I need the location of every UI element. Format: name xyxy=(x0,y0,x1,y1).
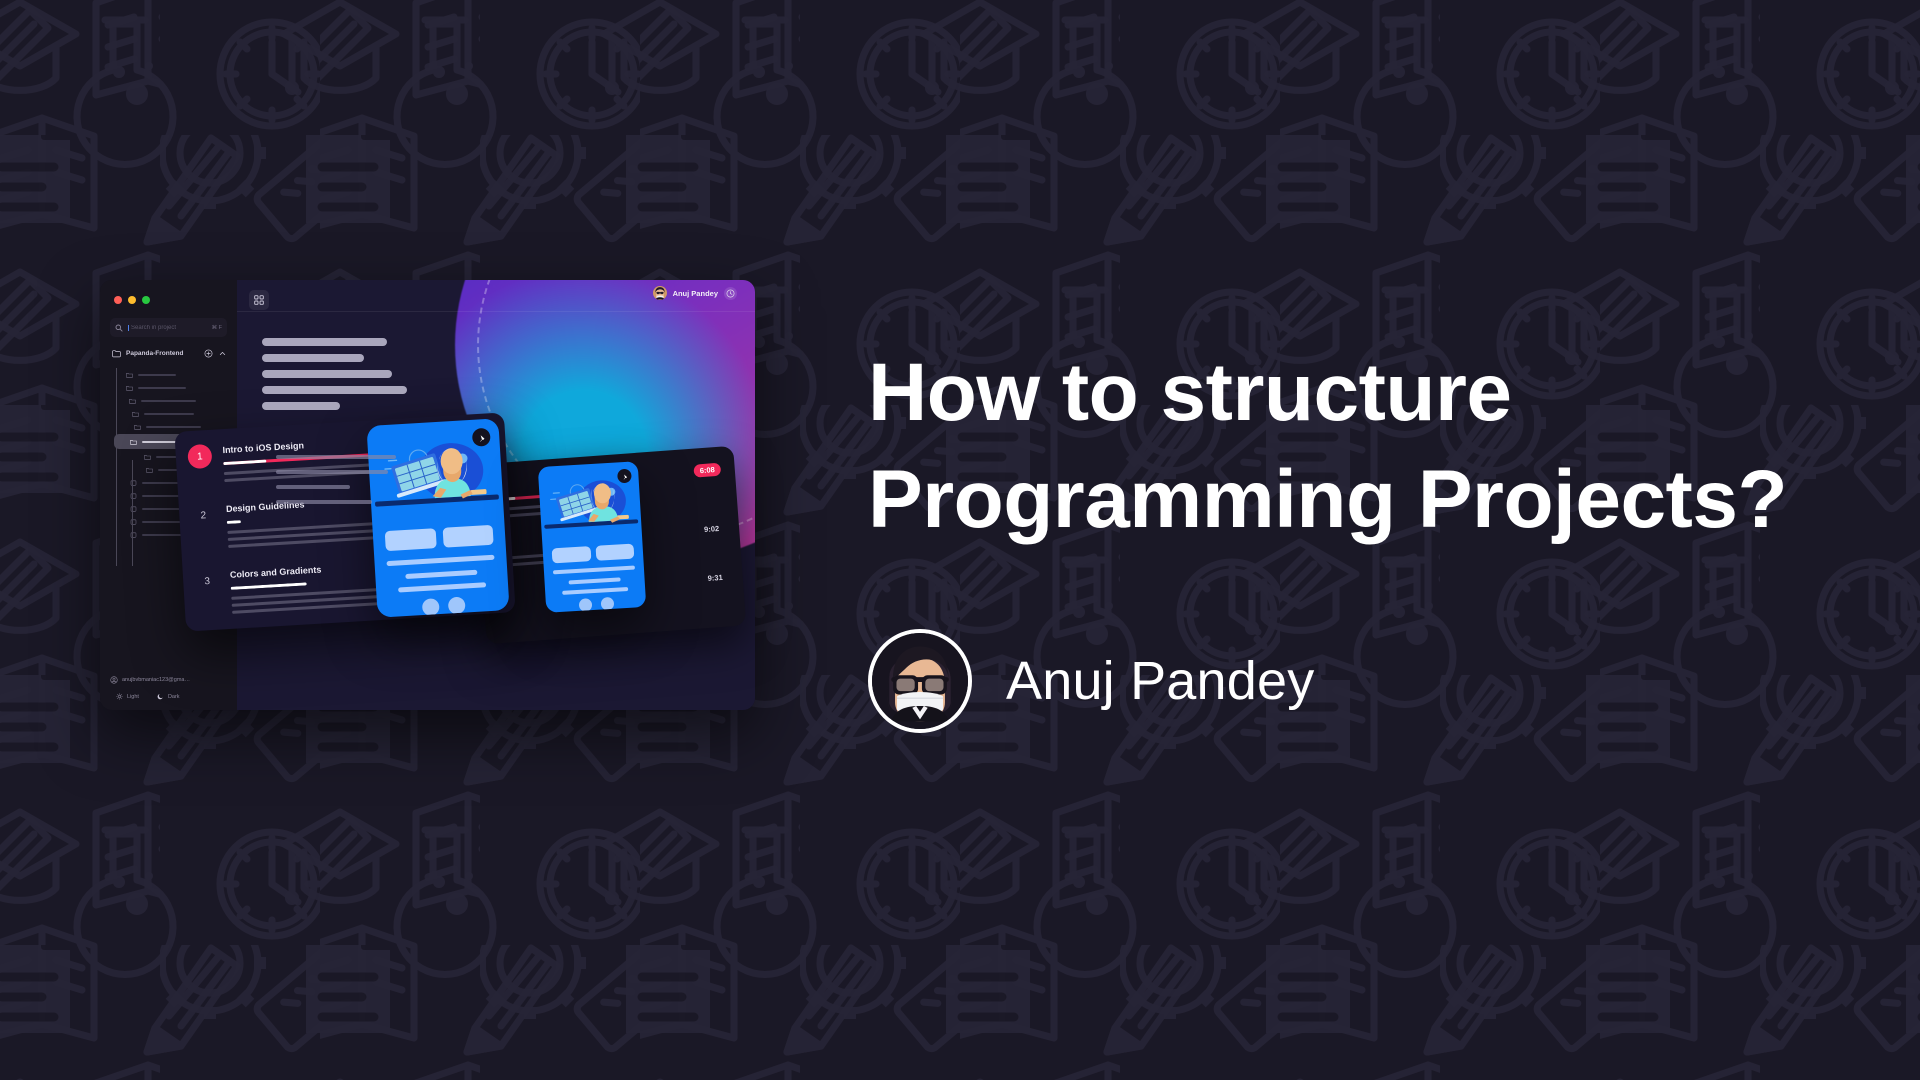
user-chip-name: Anuj Pandey xyxy=(673,289,718,298)
phone-card-row xyxy=(552,544,635,564)
search-input-value: Search in project xyxy=(128,325,207,331)
person-at-laptop-illustration xyxy=(538,473,642,545)
theme-label-light: Light xyxy=(127,694,139,700)
page-title-line1: How to structure xyxy=(868,340,1868,447)
course-title: Intro to iOS Design xyxy=(222,440,304,455)
folder-icon xyxy=(126,385,133,391)
phone-line xyxy=(405,570,477,579)
phone-card xyxy=(595,544,634,561)
content-skeleton-secondary xyxy=(276,455,396,515)
search-input[interactable]: Search in project ⌘ F xyxy=(110,318,227,337)
course-number: 2 xyxy=(191,503,216,528)
minimize-icon[interactable] xyxy=(128,296,136,304)
author-row: Anuj Pandey xyxy=(868,629,1314,733)
user-chip-avatar xyxy=(653,286,667,300)
phone-card xyxy=(442,525,494,548)
folder-icon xyxy=(130,439,137,445)
tree-item[interactable] xyxy=(116,368,227,381)
phone-dot xyxy=(421,598,439,616)
phone-card xyxy=(552,546,591,563)
phone-mockup-large xyxy=(366,418,509,617)
folder-icon xyxy=(134,424,141,430)
sun-icon xyxy=(116,693,123,700)
project-name: Papanda-Frontend xyxy=(126,350,183,357)
folder-icon xyxy=(146,467,153,473)
phone-dot xyxy=(600,597,614,611)
grid-apps-button[interactable] xyxy=(249,290,269,310)
folder-icon xyxy=(126,372,133,378)
search-icon xyxy=(115,324,123,332)
phone-line xyxy=(569,577,621,584)
course-title: Colors and Gradients xyxy=(230,564,322,579)
search-shortcut-hint: ⌘ F xyxy=(212,325,222,331)
chevron-up-icon[interactable] xyxy=(218,349,227,358)
theme-option-dark[interactable]: Dark xyxy=(157,693,180,700)
content-skeleton-primary xyxy=(262,338,407,418)
phone-card xyxy=(385,528,437,551)
clock-button[interactable] xyxy=(724,287,737,300)
phone-mockup-small xyxy=(538,461,646,613)
add-circle-icon[interactable] xyxy=(204,349,213,358)
window-traffic-lights[interactable] xyxy=(114,296,227,304)
phone-dot xyxy=(447,597,465,615)
author-name: Anuj Pandey xyxy=(1006,650,1314,712)
user-chip[interactable]: Anuj Pandey xyxy=(653,286,737,300)
phone-line xyxy=(562,587,628,595)
page-title-line2: Programming Projects? xyxy=(868,447,1868,554)
zoom-icon[interactable] xyxy=(142,296,150,304)
close-icon[interactable] xyxy=(114,296,122,304)
account-row[interactable]: anujbvbmaniac123@gma… xyxy=(110,676,229,684)
course-duration: 9:02 xyxy=(698,522,726,537)
phone-dot xyxy=(578,598,592,612)
project-header[interactable]: Papanda-Frontend xyxy=(112,349,227,358)
tree-item[interactable] xyxy=(116,394,227,407)
folder-icon xyxy=(129,398,136,404)
phone-line xyxy=(386,555,494,566)
phone-line xyxy=(398,582,486,592)
topbar-divider xyxy=(237,311,755,312)
grid-apps-icon xyxy=(254,295,264,305)
course-number: 3 xyxy=(195,569,220,594)
theme-label-dark: Dark xyxy=(168,694,180,700)
phone-card-row xyxy=(385,525,494,551)
folder-icon xyxy=(144,454,151,460)
poster-canvas: How to structure Programming Projects? xyxy=(0,0,1920,1080)
avatar xyxy=(868,629,972,733)
course-duration: 9:31 xyxy=(701,570,729,585)
theme-toggle[interactable]: Light Dark xyxy=(110,693,229,700)
sidebar-footer: anujbvbmaniac123@gma… Light xyxy=(110,676,229,700)
user-circle-icon xyxy=(110,676,118,684)
moon-icon xyxy=(157,693,164,700)
folder-icon xyxy=(112,349,121,358)
phone-line xyxy=(553,566,635,575)
tree-item[interactable] xyxy=(116,381,227,394)
clock-icon xyxy=(726,289,735,298)
tree-item[interactable] xyxy=(116,407,227,420)
folder-icon xyxy=(132,411,139,417)
course-duration: 6:08 xyxy=(693,463,721,478)
account-email: anujbvbmaniac123@gma… xyxy=(122,677,190,683)
hero-text-column: How to structure Programming Projects? xyxy=(868,340,1868,553)
theme-option-light[interactable]: Light xyxy=(116,693,139,700)
app-mockup-cluster: Search in project ⌘ F Papanda-Frontend xyxy=(80,250,820,750)
course-number: 1 xyxy=(187,444,212,469)
